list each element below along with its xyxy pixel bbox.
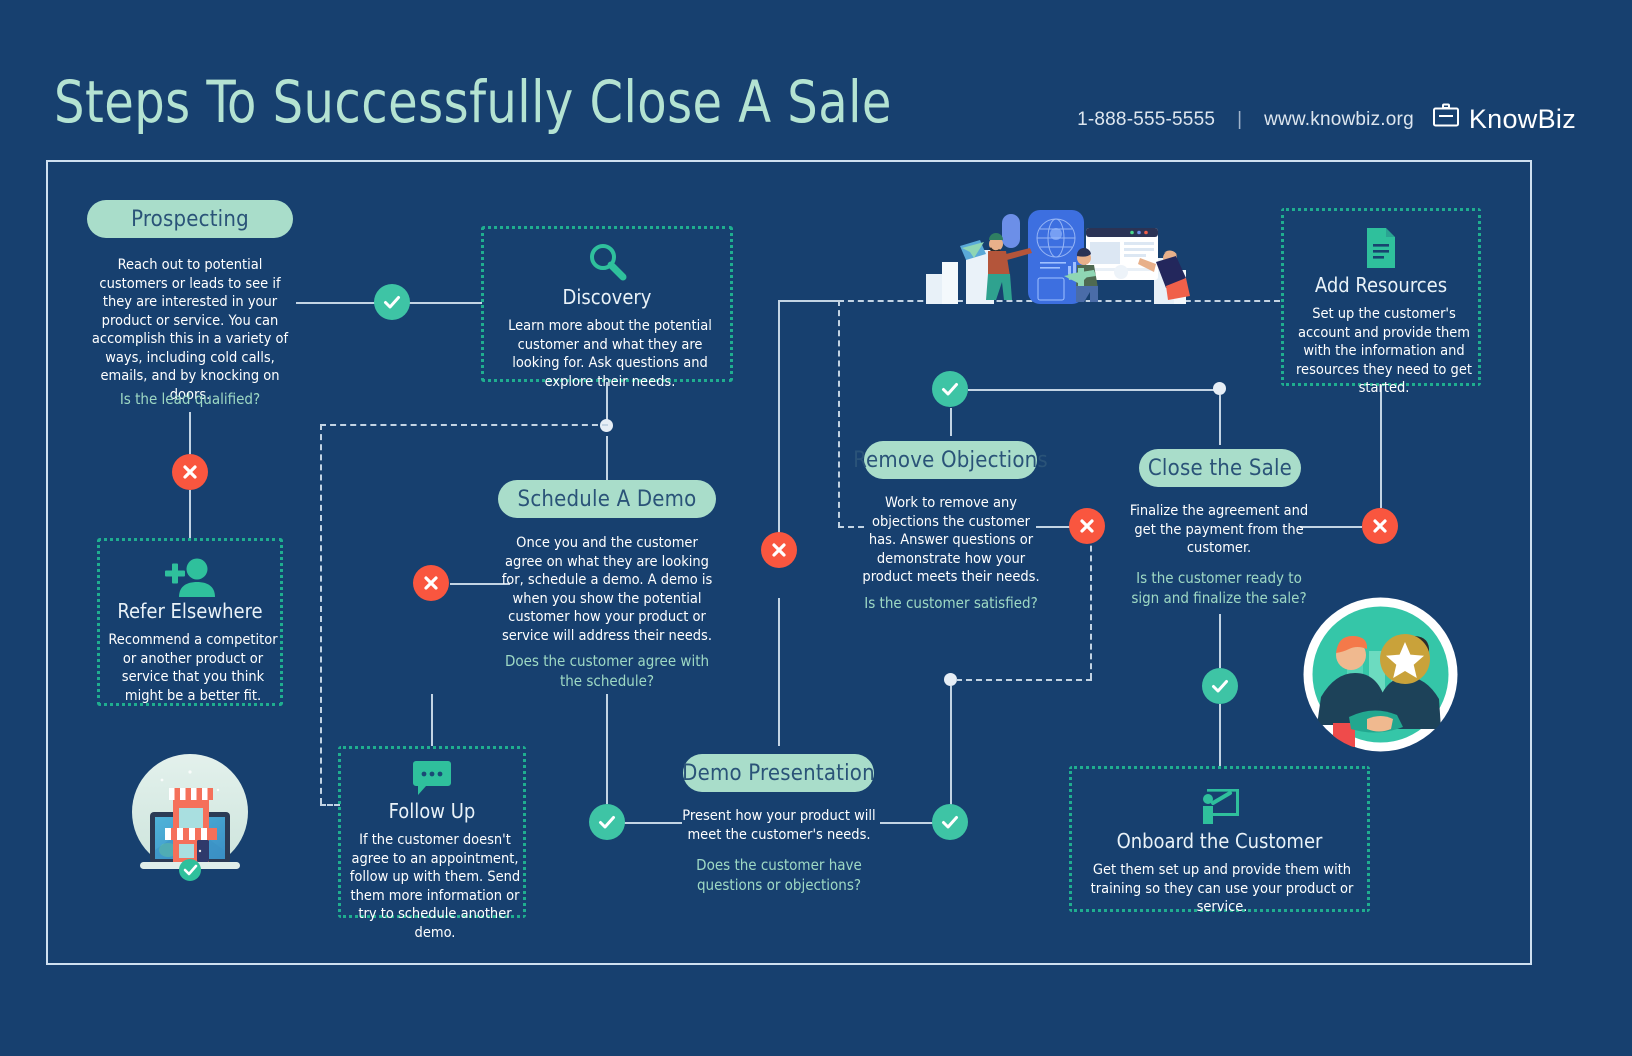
presentation-board-icon: [1197, 783, 1243, 832]
website-url[interactable]: www.knowbiz.org: [1264, 109, 1414, 131]
brand-name: KnowBiz: [1469, 104, 1576, 135]
document-icon: [1364, 227, 1398, 274]
connector-objections-close: [968, 389, 1220, 391]
node-prospecting-pill[interactable]: Prospecting: [87, 200, 293, 238]
header-contact-block: 1-888-555-5555 | www.knowbiz.org KnowBiz: [1077, 103, 1576, 136]
node-prospecting-label: Prospecting: [131, 207, 249, 232]
badge-no-schedule-demo: [413, 565, 449, 601]
connector-demo-column-up: [778, 300, 780, 540]
node-discovery-label: Discovery: [484, 285, 730, 309]
node-schedule-demo-question: Does the customer agree with the schedul…: [496, 652, 718, 691]
node-close-sale-question: Is the customer ready to sign and finali…: [1124, 569, 1314, 608]
connector-demo-to-yes: [880, 822, 934, 824]
node-remove-objections-question: Is the customer satisfied?: [857, 594, 1045, 614]
node-remove-objections-body: Work to remove any objections the custom…: [862, 494, 1040, 587]
badge-yes-prospecting: [374, 284, 410, 320]
badge-no-prospecting: [172, 454, 208, 490]
node-prospecting-question: Is the lead qualified?: [84, 390, 296, 410]
connector-dashed-left-down: [320, 424, 322, 804]
node-close-sale-pill[interactable]: Close the Sale: [1139, 449, 1301, 487]
connector-top-left-turn: [778, 300, 838, 302]
node-schedule-demo-pill[interactable]: Schedule A Demo: [498, 480, 716, 518]
connector-dashed-no-down: [1090, 526, 1092, 679]
connector-schedule-down: [606, 694, 608, 804]
node-demo-presentation-question: Does the customer have questions or obje…: [672, 856, 886, 895]
badge-yes-remove-objections: [932, 371, 968, 407]
connector-no-refer: [189, 490, 191, 538]
node-onboard-customer[interactable]: Onboard the Customer Get them set up and…: [1069, 766, 1370, 912]
node-schedule-demo-label: Schedule A Demo: [518, 487, 697, 512]
node-add-resources[interactable]: Add Resources Set up the customer's acco…: [1281, 208, 1481, 386]
badge-yes-demo-presentation: [932, 804, 968, 840]
node-close-sale-label: Close the Sale: [1148, 456, 1292, 481]
node-remove-objections-pill[interactable]: Remove Objections: [864, 441, 1037, 479]
badge-yes-schedule-demo: [589, 804, 625, 840]
node-onboard-customer-label: Onboard the Customer: [1072, 829, 1367, 853]
connector-dashed-schedule-left: [320, 424, 608, 426]
connector-dashed-objections-in: [838, 526, 864, 528]
node-refer-elsewhere-label: Refer Elsewhere: [100, 599, 280, 623]
briefcase-icon: [1432, 103, 1460, 136]
page-title: Steps To Successfully Close A Sale: [54, 68, 892, 136]
handshake-star-illustration: [1303, 597, 1458, 752]
connector-dashed-no-back: [956, 679, 1092, 681]
connector-prospecting-down: [189, 412, 191, 456]
connector-demo-column-down: [778, 598, 780, 746]
connector-yes-up-objections: [950, 686, 952, 806]
node-refer-elsewhere[interactable]: Refer Elsewhere Recommend a competitor o…: [97, 538, 283, 706]
joint-close-top: [1213, 382, 1226, 395]
connector-dashed-objections-left: [838, 300, 840, 528]
node-demo-presentation-body: Present how your product will meet the c…: [672, 807, 886, 844]
connector-dashed-to-followup: [320, 804, 340, 806]
connector-objections-no: [1036, 526, 1070, 528]
phone-number: 1-888-555-5555: [1077, 109, 1215, 131]
node-follow-up[interactable]: Follow Up If the customer doesn't agree …: [338, 746, 526, 918]
connector-joint-close-down: [1219, 395, 1221, 445]
node-follow-up-body: If the customer doesn't agree to an appo…: [349, 831, 521, 942]
node-discovery-body: Learn more about the potential customer …: [492, 317, 728, 391]
node-close-sale-body: Finalize the agreement and get the payme…: [1128, 502, 1310, 558]
badge-yes-close-sale: [1202, 668, 1238, 704]
node-remove-objections-label: Remove Objections: [853, 448, 1048, 473]
node-demo-presentation-pill[interactable]: Demo Presentation: [683, 754, 874, 792]
connector-yes-onboard: [1219, 704, 1221, 766]
node-demo-presentation-label: Demo Presentation: [682, 761, 875, 786]
connector-close-down: [1219, 614, 1221, 668]
add-user-icon: [164, 557, 216, 604]
connector-joint-schedule: [606, 436, 608, 480]
header-separator: |: [1237, 109, 1242, 131]
badge-no-remove-objections: [1069, 508, 1105, 544]
connector-followup-up: [431, 694, 433, 746]
node-onboard-customer-body: Get them set up and provide them with tr…: [1086, 861, 1358, 917]
node-discovery[interactable]: Discovery Learn more about the potential…: [481, 226, 733, 382]
badge-no-demo-presentation: [761, 532, 797, 568]
badge-no-close-sale: [1362, 508, 1398, 544]
team-collaboration-illustration: [918, 196, 1190, 304]
storefront-illustration: [124, 750, 256, 882]
node-add-resources-body: Set up the customer's account and provid…: [1292, 305, 1476, 398]
node-refer-elsewhere-body: Recommend a competitor or another produc…: [108, 631, 278, 705]
connector-objections-top: [950, 408, 952, 436]
brand-logo: KnowBiz: [1432, 103, 1576, 136]
magnifying-glass-icon: [586, 241, 628, 288]
infographic-canvas: Steps To Successfully Close A Sale 1-888…: [0, 0, 1632, 1056]
node-add-resources-label: Add Resources: [1284, 273, 1478, 297]
node-schedule-demo-body: Once you and the customer agree on what …: [496, 534, 718, 645]
node-follow-up-label: Follow Up: [341, 799, 523, 823]
chat-bubble-icon: [412, 759, 452, 802]
connector-addresources-down: [1380, 386, 1382, 508]
node-prospecting-body: Reach out to potential customers or lead…: [84, 256, 296, 404]
